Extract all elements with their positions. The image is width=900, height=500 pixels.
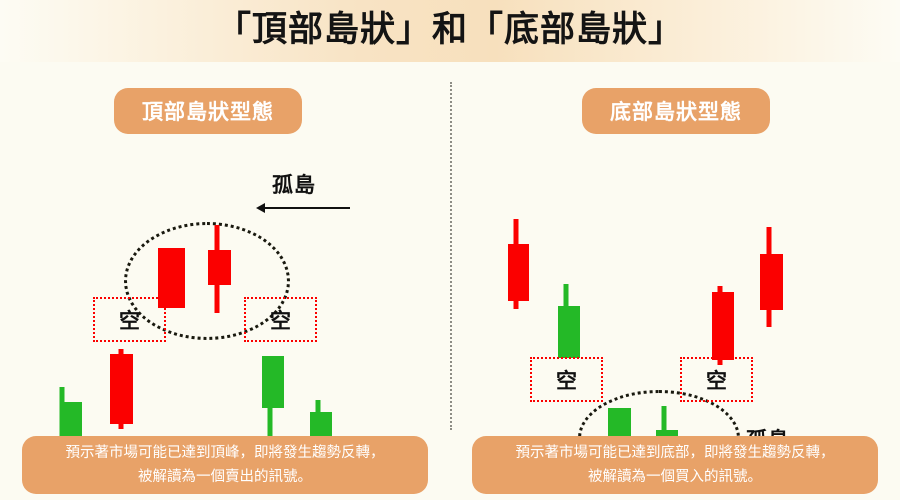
- panel-caption-bottom: 預示著市場可能已達到底部，即將發生趨勢反轉， 被解讀為一個買入的訊號。: [472, 436, 878, 494]
- gap-box-right: 空: [244, 297, 317, 342]
- caption-line: 預示著市場可能已達到頂峰，即將發生趨勢反轉，: [66, 441, 385, 465]
- candle-body: [558, 306, 580, 358]
- arrow-shaft: [262, 207, 350, 209]
- panel-caption-top: 預示著市場可能已達到頂峰，即將發生趨勢反轉， 被解讀為一個賣出的訊號。: [22, 436, 428, 494]
- caption-line: 被解讀為一個賣出的訊號。: [138, 465, 312, 489]
- island-annotation-arrow: [256, 202, 350, 214]
- candle-body: [208, 250, 231, 285]
- gap-box-label: 空: [706, 365, 727, 395]
- gap-box-right: 空: [680, 357, 753, 402]
- gap-box-label: 空: [119, 305, 140, 335]
- caption-line: 被解讀為一個買入的訊號。: [588, 465, 762, 489]
- gap-box-left: 空: [93, 297, 166, 342]
- candle-body: [712, 292, 734, 360]
- panel-island-bottom-reversal: 底部島狀型態: [450, 62, 900, 500]
- caption-line: 預示著市場可能已達到底部，即將發生趨勢反轉，: [516, 441, 835, 465]
- page-title: 「頂部島狀」和「底部島狀」: [0, 4, 900, 56]
- infographic-page: 「頂部島狀」和「底部島狀」 頂部島狀型態: [0, 0, 900, 500]
- gap-box-label: 空: [270, 305, 291, 335]
- candle-body: [508, 244, 529, 301]
- gap-box-label: 空: [556, 365, 577, 395]
- island-annotation-label: 孤島: [272, 169, 316, 199]
- candle-body: [110, 354, 133, 424]
- candle-body: [262, 356, 284, 408]
- chart-stage-bottom: 空 空 孤島: [450, 62, 900, 500]
- gap-box-left: 空: [530, 357, 603, 402]
- candle-body: [760, 254, 783, 310]
- panel-island-top-reversal: 頂部島狀型態: [0, 62, 450, 500]
- chart-stage-top: 空 空 孤島: [0, 62, 450, 500]
